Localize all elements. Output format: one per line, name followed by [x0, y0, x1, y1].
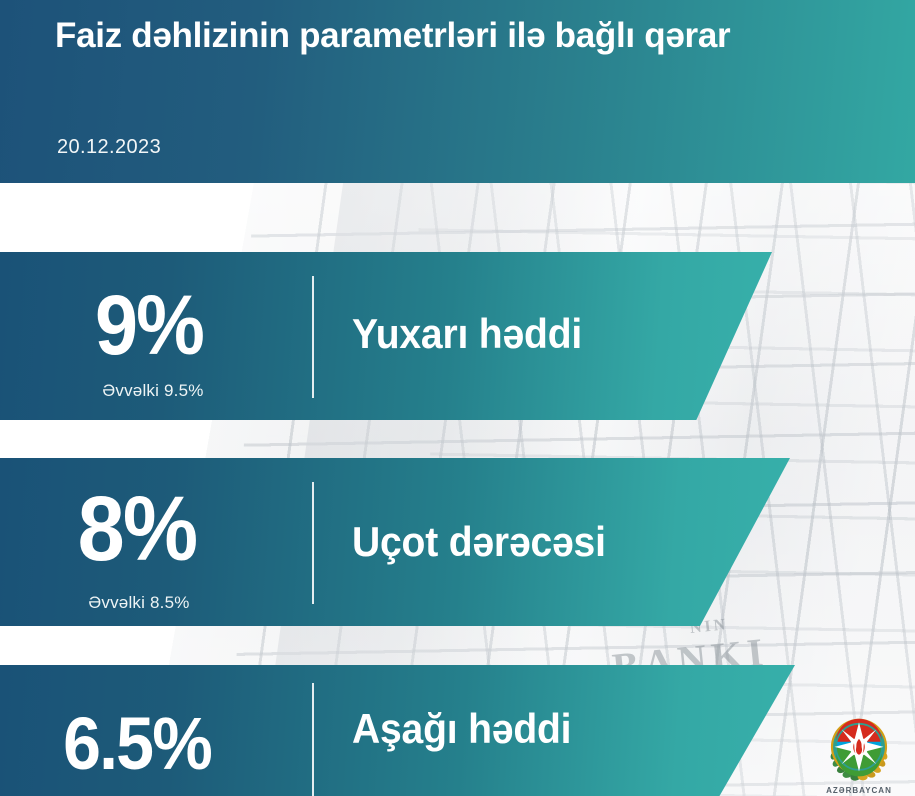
publication-date: 20.12.2023 [57, 136, 161, 159]
page-title: Faiz dəhlizinin parametrləri ilə bağlı q… [55, 14, 775, 59]
band-value-column: 9% Əvvəlki 9.5% [0, 252, 290, 420]
infographic-root: NIN BANKI Faiz dəhlizinin parametrləri i… [0, 0, 915, 796]
vertical-divider [312, 482, 314, 604]
emblem-caption: AZƏRBAYCAN [806, 786, 912, 795]
azerbaijan-emblem-icon [823, 713, 895, 785]
rate-name-label: Uçot dərəcəsi [352, 518, 606, 566]
band-value-column: 6.5% [0, 665, 290, 796]
previous-rate-label: Əvvəlki 8.5% [0, 593, 284, 613]
rate-value: 6.5% [4, 707, 271, 781]
previous-rate-label: Əvvəlki 9.5% [8, 381, 298, 401]
vertical-divider [312, 276, 314, 398]
rate-band-lower-limit: 6.5% Aşağı həddi [0, 665, 795, 796]
rate-name-label: Yuxarı həddi [352, 310, 582, 358]
rate-value: 8% [4, 483, 271, 575]
rate-band-upper-limit: 9% Əvvəlki 9.5% Yuxarı həddi [0, 252, 772, 420]
rate-name-label: Aşağı həddi [352, 705, 571, 753]
header-banner: Faiz dəhlizinin parametrləri ilə bağlı q… [0, 0, 915, 183]
rate-band-discount-rate: 8% Əvvəlki 8.5% Uçot dərəcəsi [0, 458, 790, 626]
vertical-divider [312, 683, 314, 796]
band-value-column: 8% Əvvəlki 8.5% [0, 458, 290, 626]
rate-value: 9% [16, 283, 283, 367]
